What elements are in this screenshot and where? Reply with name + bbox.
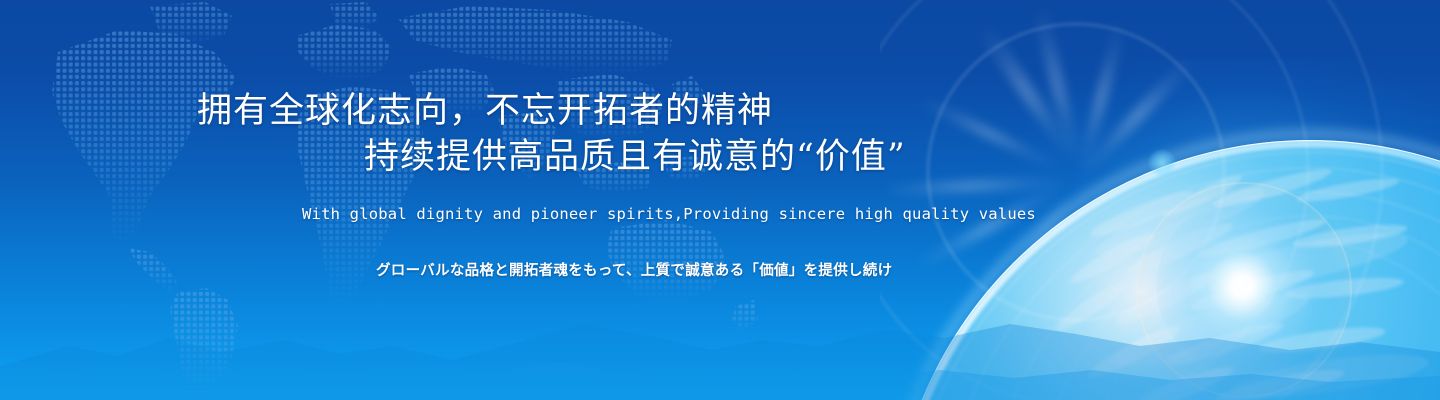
mountain-silhouette-icon (0, 280, 1440, 400)
subtitle-japanese: グローバルな品格と開拓者魂をもって、上質で誠意ある「価値」を提供し続け (376, 259, 892, 280)
headline-line-1: 拥有全球化志向，不忘开拓者的精神 (197, 88, 1197, 134)
headline-line-2: 持续提供高品质且有诚意的“价值” (364, 134, 1364, 180)
hero-banner: 拥有全球化志向，不忘开拓者的精神 持续提供高品质且有诚意的“价值” With g… (0, 0, 1440, 400)
subtitle-english: With global dignity and pioneer spirits,… (302, 205, 1036, 223)
